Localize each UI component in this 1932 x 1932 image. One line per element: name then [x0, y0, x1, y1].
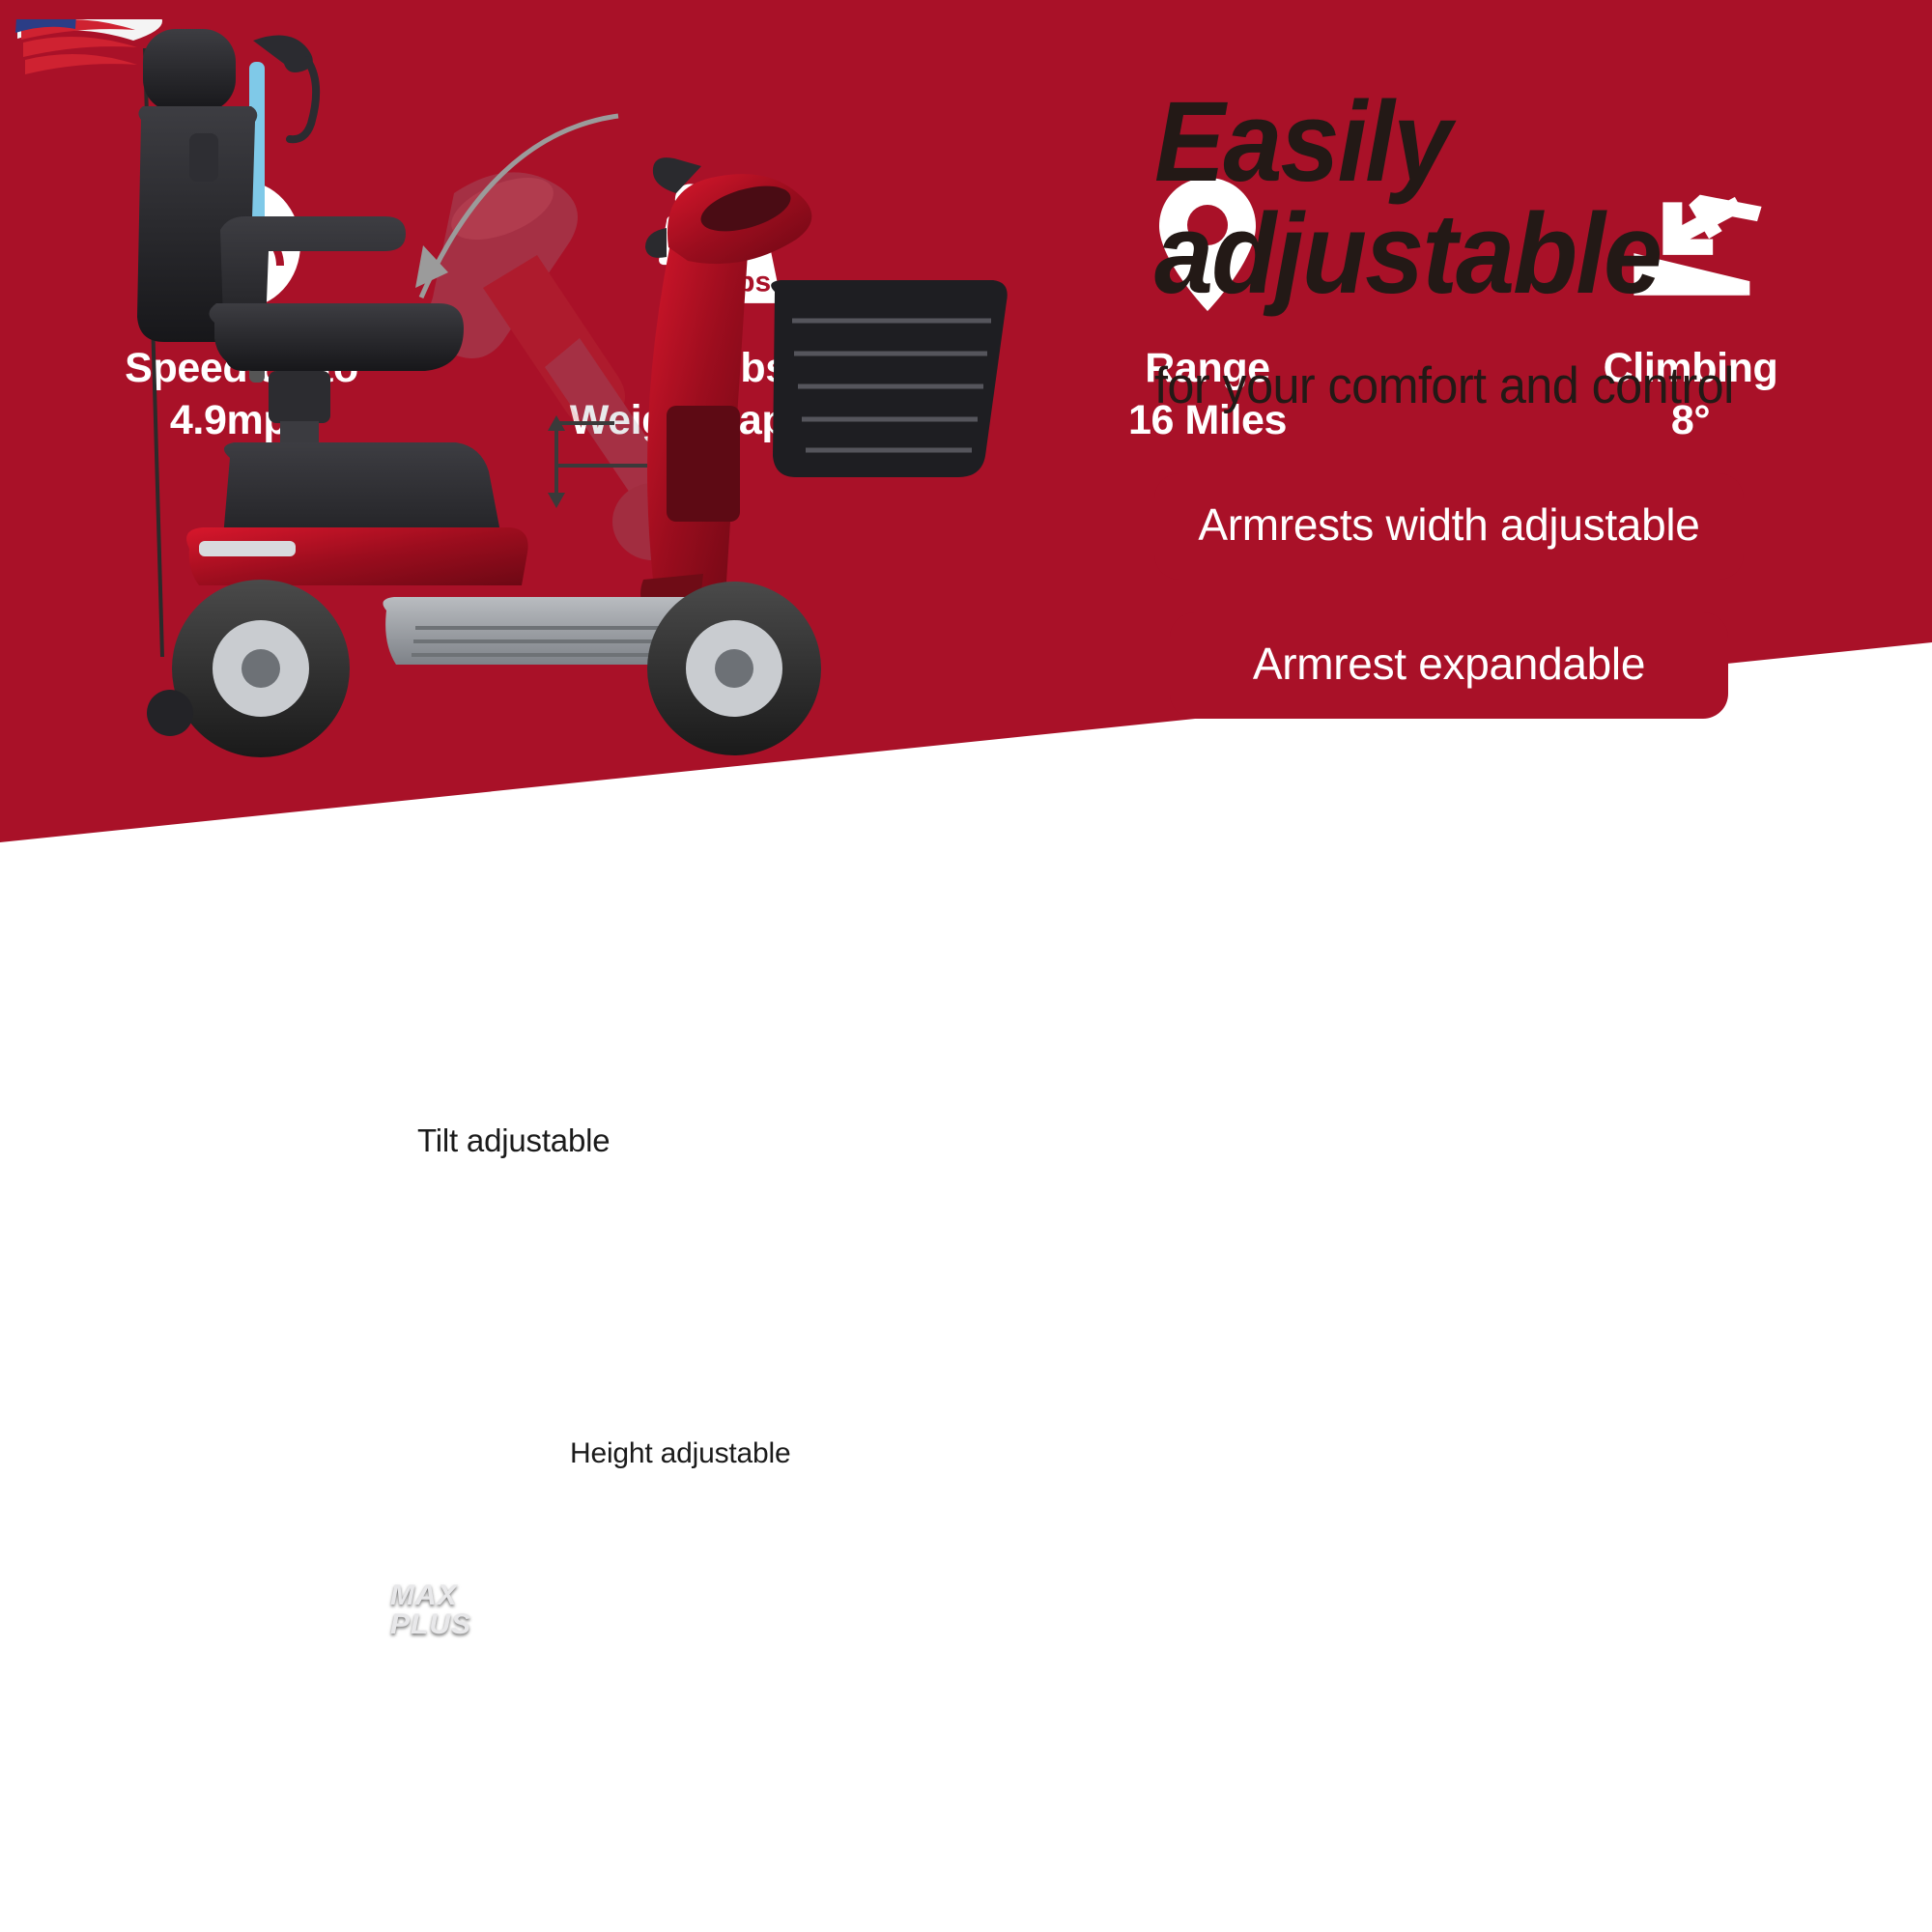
right-text-column: Easily adjustable for your comfort and c… — [1154, 87, 1908, 752]
feature-pill-list: Armrests width adjustable Armrest expand… — [1154, 473, 1908, 719]
pill-armrests-width-adjustable[interactable]: Armrests width adjustable — [1154, 473, 1744, 580]
product-feature-graphic: Speed up to 4.9mph lbs 300lbs Weight cap… — [0, 0, 1932, 1932]
product-brand-line2: PLUS — [390, 1610, 471, 1639]
front-wheel — [647, 582, 821, 755]
subheadline: for your comfort and control — [1154, 356, 1870, 415]
annotation-tilt-adjustable: Tilt adjustable — [417, 1122, 610, 1159]
headline-line-2: adjustable — [1154, 199, 1855, 311]
annotation-height-adjustable: Height adjustable — [570, 1437, 790, 1470]
scooter-body — [186, 442, 528, 585]
seat — [137, 29, 464, 460]
scooter-illustration — [0, 19, 1121, 1063]
product-brand-decal: MAX PLUS — [390, 1581, 471, 1639]
headline-line-1: Easily — [1154, 87, 1855, 199]
product-brand-line1: MAX — [390, 1581, 471, 1610]
headline: Easily adjustable — [1154, 87, 1855, 310]
rear-wheel — [172, 580, 350, 757]
pill-armrest-expandable[interactable]: Armrest expandable — [1170, 612, 1728, 719]
anti-tip-caster — [147, 690, 193, 736]
us-flag — [15, 19, 162, 74]
front-basket — [771, 280, 1008, 477]
